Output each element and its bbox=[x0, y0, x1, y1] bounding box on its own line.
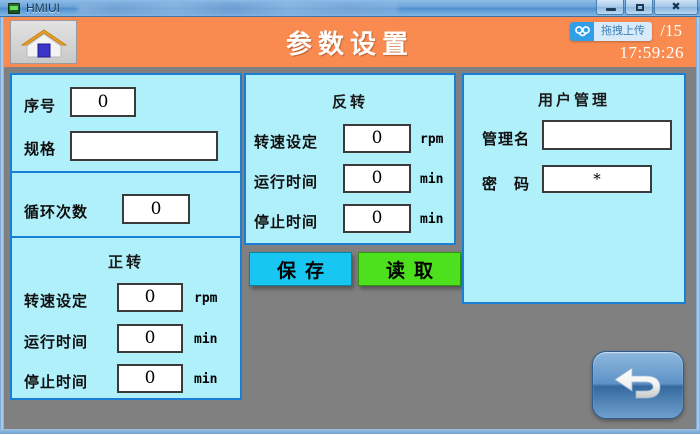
maximize-icon bbox=[636, 4, 644, 11]
forward-speed-label: 转速设定 bbox=[24, 290, 88, 311]
reverse-run-input[interactable]: 0 bbox=[343, 164, 411, 193]
clock-display: 17:59:26 bbox=[620, 43, 684, 63]
forward-speed-unit: rpm bbox=[194, 291, 217, 306]
back-button[interactable] bbox=[592, 351, 684, 419]
forward-run-unit: min bbox=[194, 332, 217, 347]
close-icon: ✖ bbox=[655, 0, 697, 15]
admin-name-label: 管理名 bbox=[482, 128, 530, 149]
forward-stop-input[interactable]: 0 bbox=[117, 364, 183, 393]
read-button[interactable]: 读取 bbox=[358, 252, 461, 286]
window-title-blurred-path bbox=[78, 3, 398, 14]
password-label: 密 码 bbox=[482, 173, 530, 194]
application-window: HMIUI ✖ 参数设置 bbox=[0, 0, 700, 434]
window-title: HMIUI bbox=[26, 1, 60, 15]
client-area: 参数设置 拖拽上传 /15 17:59:26 序号 0 规格 bbox=[4, 17, 696, 429]
window-controls: ✖ bbox=[595, 0, 698, 16]
cycle-input[interactable]: 0 bbox=[122, 194, 190, 224]
panel-divider-2 bbox=[12, 236, 240, 238]
reverse-section-title: 反转 bbox=[246, 91, 454, 112]
minimize-button[interactable] bbox=[596, 0, 624, 15]
spec-input[interactable] bbox=[70, 131, 218, 161]
reverse-stop-unit: min bbox=[420, 212, 443, 227]
admin-name-input[interactable] bbox=[542, 120, 672, 150]
spec-label: 规格 bbox=[24, 138, 56, 159]
password-input[interactable]: * bbox=[542, 165, 652, 193]
middle-panel: 反转 转速设定 0 rpm 运行时间 0 min 停止时间 0 min bbox=[244, 73, 456, 245]
serial-input[interactable]: 0 bbox=[70, 87, 136, 117]
serial-label: 序号 bbox=[24, 95, 56, 116]
cycle-label: 循环次数 bbox=[24, 201, 88, 222]
reverse-speed-label: 转速设定 bbox=[254, 131, 318, 152]
cloud-upload-icon bbox=[570, 22, 594, 41]
right-panel: 用户管理 管理名 密 码 * bbox=[462, 73, 686, 304]
drag-upload-label: 拖拽上传 bbox=[594, 22, 652, 41]
window-frame-bottom bbox=[0, 429, 700, 434]
window-titlebar[interactable]: HMIUI ✖ bbox=[0, 0, 700, 17]
maximize-button[interactable] bbox=[625, 0, 653, 15]
window-frame-right bbox=[696, 17, 700, 434]
reverse-stop-input[interactable]: 0 bbox=[343, 204, 411, 233]
forward-run-label: 运行时间 bbox=[24, 331, 88, 352]
reverse-run-label: 运行时间 bbox=[254, 171, 318, 192]
forward-stop-unit: min bbox=[194, 372, 217, 387]
app-icon bbox=[8, 3, 20, 14]
page-counter: /15 bbox=[660, 21, 682, 41]
reverse-speed-unit: rpm bbox=[420, 132, 443, 147]
forward-section-title: 正转 bbox=[12, 251, 240, 272]
close-button[interactable]: ✖ bbox=[654, 0, 698, 15]
drag-upload-button[interactable]: 拖拽上传 bbox=[570, 22, 652, 41]
minimize-icon bbox=[606, 8, 616, 11]
user-management-title: 用户管理 bbox=[464, 89, 684, 110]
reverse-run-unit: min bbox=[420, 172, 443, 187]
left-panel: 序号 0 规格 循环次数 0 正转 转速设定 0 rpm 运行时间 0 min … bbox=[10, 73, 242, 400]
reverse-speed-input[interactable]: 0 bbox=[343, 124, 411, 153]
panel-divider-1 bbox=[12, 171, 240, 173]
forward-stop-label: 停止时间 bbox=[24, 371, 88, 392]
forward-speed-input[interactable]: 0 bbox=[117, 283, 183, 312]
reverse-stop-label: 停止时间 bbox=[254, 211, 318, 232]
save-button[interactable]: 保存 bbox=[249, 252, 352, 286]
forward-run-input[interactable]: 0 bbox=[117, 324, 183, 353]
back-arrow-icon bbox=[610, 364, 666, 406]
app-header: 参数设置 拖拽上传 /15 17:59:26 bbox=[4, 17, 696, 67]
